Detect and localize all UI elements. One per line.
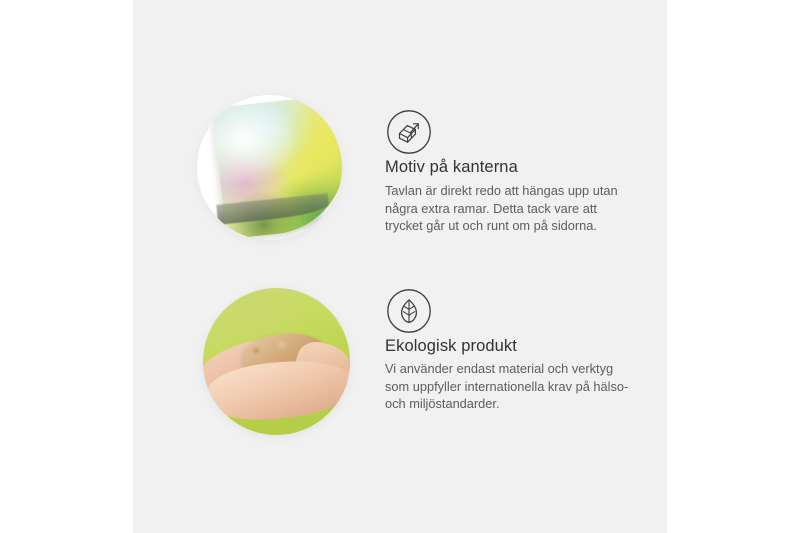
feature-body: Tavlan är direkt redo att hängas upp uta…	[385, 182, 637, 235]
product-feature-page: Motiv på kanterna Tavlan är direkt redo …	[0, 0, 800, 533]
leaf-icon	[386, 288, 432, 334]
feature-title: Motiv på kanterna	[385, 158, 518, 177]
canvas-wrapped-edge-icon	[386, 109, 432, 155]
hands-holding-wood-chips-photo	[203, 288, 350, 435]
feature-body: Vi använder endast material och verktyg …	[385, 360, 637, 413]
feature-title: Ekologisk produkt	[385, 337, 517, 356]
feature-panel	[133, 0, 667, 533]
canvas-print-corner-photo	[197, 95, 342, 240]
